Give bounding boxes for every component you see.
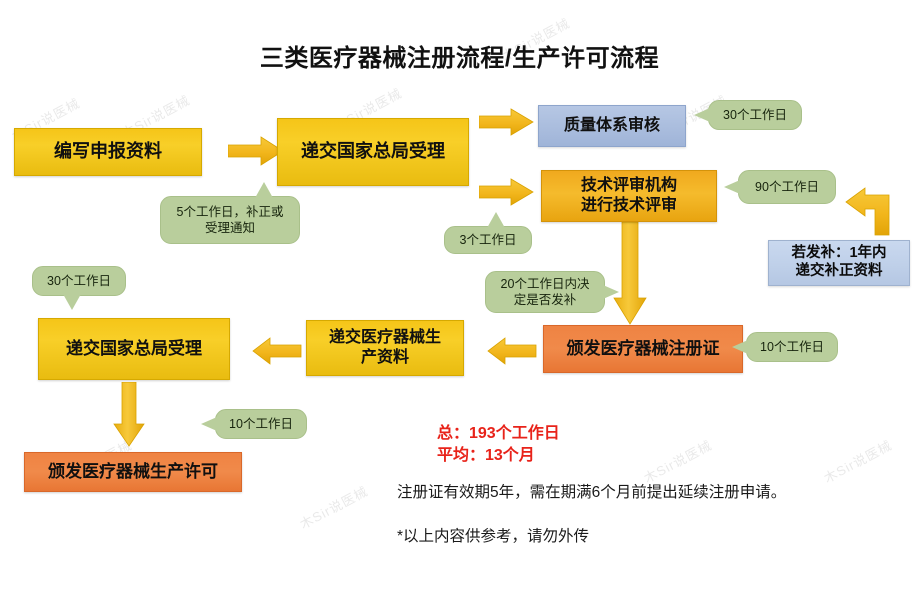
- callout-text: 10个工作日: [760, 339, 824, 355]
- arrow-submit-to-technical: [479, 178, 534, 206]
- callout-tail-icon: [255, 182, 273, 198]
- callout-tail-icon: [603, 285, 619, 299]
- watermark: 木Sir说医械: [296, 481, 371, 533]
- page-title: 三类医疗器械注册流程/生产许可流程: [0, 38, 919, 73]
- arrow-submit-to-quality: [479, 108, 534, 136]
- callout-decide-20-days: 20个工作日内决 定是否发补: [485, 271, 605, 313]
- callout-text: 20个工作日内决 定是否发补: [501, 276, 590, 308]
- callout-accept-5-days: 5个工作日，补正或 受理通知: [160, 196, 300, 244]
- callout-text: 10个工作日: [229, 416, 293, 432]
- callout-license-10-days: 10个工作日: [215, 409, 307, 439]
- callout-tail-icon: [487, 212, 505, 228]
- box-prepare-docs[interactable]: 编写申报资料: [14, 128, 202, 176]
- callout-text: 90个工作日: [755, 179, 819, 195]
- box-quality-system-audit[interactable]: 质量体系审核: [538, 105, 686, 147]
- callout-tail-icon: [201, 417, 217, 431]
- callout-text: 30个工作日: [47, 273, 111, 289]
- watermark: 木Sir说医械: [820, 435, 895, 487]
- watermark: 木Sir说医械: [640, 435, 715, 487]
- box-technical-review[interactable]: 技术评审机构 进行技术评审: [541, 170, 717, 222]
- callout-tail-icon: [694, 108, 710, 122]
- arrow-prepare-to-submit: [228, 136, 284, 166]
- arrow-cert-to-production-docs: [487, 337, 537, 365]
- callout-tail-icon: [63, 294, 81, 310]
- summary-total: 总：193个工作日: [437, 422, 560, 445]
- box-issue-production-license[interactable]: 颁发医疗器械生产许可: [24, 452, 242, 492]
- note-disclaimer: *以上内容供参考，请勿外传: [397, 526, 589, 548]
- flowchart-canvas: 木Sir说医械 木Sir说医械 木Sir说医械 木Sir说医械 木Sir说医械 …: [0, 0, 919, 604]
- callout-text: 3个工作日: [460, 232, 517, 248]
- box-submit-nmpa-1[interactable]: 递交国家总局受理: [277, 118, 469, 186]
- callout-tail-icon: [724, 180, 740, 194]
- callout-text: 5个工作日，补正或 受理通知: [177, 204, 284, 236]
- callout-transfer-3-days: 3个工作日: [444, 226, 532, 254]
- callout-nmpa2-30-days: 30个工作日: [32, 266, 126, 296]
- callout-quality-30-days: 30个工作日: [708, 100, 802, 130]
- arrow-technical-to-cert: [612, 222, 648, 326]
- arrow-production-docs-to-nmpa: [252, 337, 302, 365]
- callout-cert-10-days: 10个工作日: [746, 332, 838, 362]
- note-validity: 注册证有效期5年，需在期满6个月前提出延续注册申请。: [397, 482, 786, 504]
- arrow-nmpa-to-license: [112, 382, 146, 448]
- arrow-supplement-return: [845, 172, 907, 236]
- callout-technical-90-days: 90个工作日: [738, 170, 836, 204]
- callout-tail-icon: [732, 340, 748, 354]
- summary-average: 平均：13个月: [437, 444, 535, 467]
- box-issue-registration-cert[interactable]: 颁发医疗器械注册证: [543, 325, 743, 373]
- box-submit-nmpa-2[interactable]: 递交国家总局受理: [38, 318, 230, 380]
- callout-text: 30个工作日: [723, 107, 787, 123]
- box-submit-production-docs[interactable]: 递交医疗器械生 产资料: [306, 320, 464, 376]
- box-supplement-notice[interactable]: 若发补：1年内 递交补正资料: [768, 240, 910, 286]
